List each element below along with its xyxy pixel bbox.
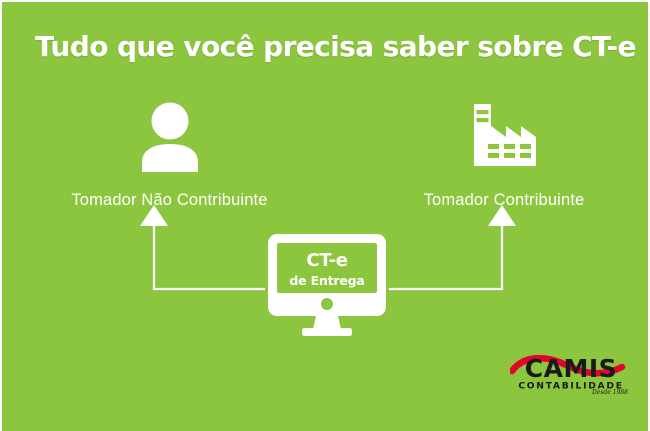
factory-icon (394, 100, 614, 177)
logo-brand-text: CAMIS (525, 354, 617, 383)
person-icon (22, 100, 317, 177)
node-tomador-nao-contribuinte: Tomador Não Contribuinte (22, 100, 317, 210)
logo-script-text: Desde 1988 (591, 389, 628, 395)
arrow-to-right (390, 205, 516, 289)
monitor-icon: CT-e de Entrega (268, 234, 386, 336)
infographic-canvas: Tudo que você precisa saber sobre CT-e T… (0, 0, 650, 431)
node-tomador-contribuinte: Tomador Contribuinte (394, 100, 614, 210)
arrow-to-left (140, 205, 264, 289)
page-title: Tudo que você precisa saber sobre CT-e (35, 30, 615, 64)
node-label-tomador-nao-contribuinte: Tomador Não Contribuinte (22, 191, 317, 210)
node-label-tomador-contribuinte: Tomador Contribuinte (394, 191, 614, 210)
camis-logo: CAMIS CONTABILIDADE Desde 1988 (510, 347, 632, 395)
